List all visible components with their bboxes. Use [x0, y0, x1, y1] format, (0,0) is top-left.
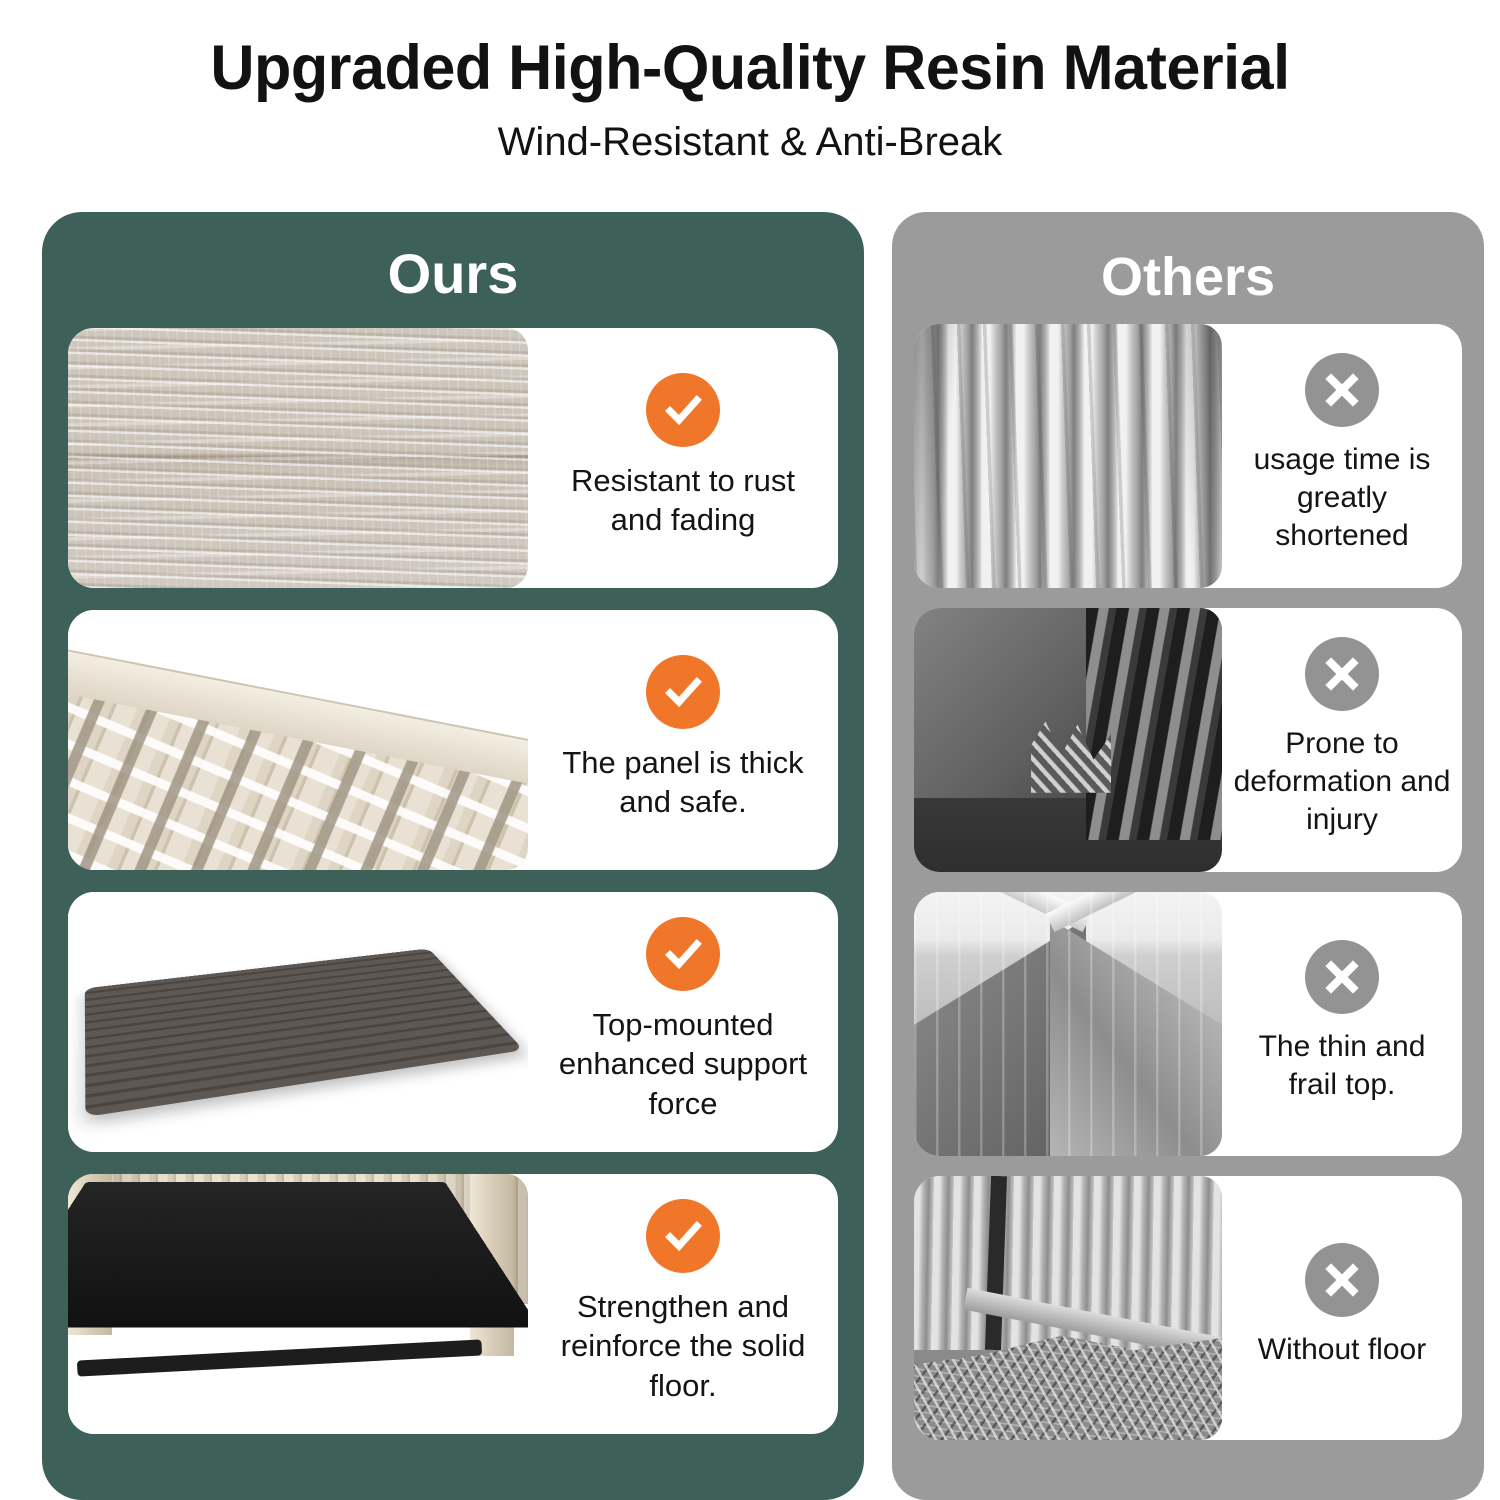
ours-caption-text: Strengthen and reinforce the solid floor…	[548, 1287, 818, 1404]
x-circle-icon	[1305, 1243, 1379, 1317]
others-caption-text: usage time is greatly shortened	[1232, 441, 1452, 554]
ours-row-list: Resistant to rust and fading The panel i…	[42, 328, 864, 1458]
ours-caption: Resistant to rust and fading	[528, 328, 838, 588]
page-title: Upgraded High-Quality Resin Material	[23, 34, 1478, 102]
comparison-section: Ours Resistant to rust and fading	[0, 212, 1500, 1500]
others-caption: The thin and frail top.	[1222, 892, 1462, 1156]
comparison-row: The thin and frail top.	[914, 892, 1462, 1156]
others-panel: Others usage time is greatly shortened	[892, 212, 1484, 1500]
ours-panel-heading: Ours	[42, 212, 864, 328]
solid-shed-floor-photo	[68, 1174, 528, 1434]
page-header: Upgraded High-Quality Resin Material Win…	[0, 0, 1500, 164]
metal-fins-shape	[1086, 608, 1222, 840]
comparison-row: Strengthen and reinforce the solid floor…	[68, 1174, 838, 1434]
resin-wood-grain-texture-photo	[68, 328, 528, 588]
others-caption: Prone to deformation and injury	[1222, 608, 1462, 872]
ours-caption-text: The panel is thick and safe.	[548, 743, 818, 821]
rusty-corrugated-metal-photo	[914, 324, 1222, 588]
others-caption: usage time is greatly shortened	[1222, 324, 1462, 588]
comparison-row: Prone to deformation and injury	[914, 608, 1462, 872]
comparison-row: Without floor	[914, 1176, 1462, 1440]
comparison-row: Resistant to rust and fading	[68, 328, 838, 588]
page-subtitle: Wind-Resistant & Anti-Break	[0, 120, 1500, 164]
ours-caption: Top-mounted enhanced support force	[528, 892, 838, 1152]
reinforced-floor-panel-photo	[68, 892, 528, 1152]
x-circle-icon	[1305, 637, 1379, 711]
roof-streaks-shading	[914, 892, 1222, 1156]
check-circle-icon	[646, 1199, 720, 1273]
check-circle-icon	[646, 917, 720, 991]
ours-caption: The panel is thick and safe.	[528, 610, 838, 870]
others-caption: Without floor	[1222, 1176, 1462, 1440]
thick-slotted-resin-panel-photo	[68, 610, 528, 870]
comparison-row: usage time is greatly shortened	[914, 324, 1462, 588]
others-caption-text: The thin and frail top.	[1232, 1028, 1452, 1104]
deformed-metal-edge-photo	[914, 608, 1222, 872]
check-circle-icon	[646, 373, 720, 447]
others-panel-heading: Others	[892, 212, 1484, 324]
ours-panel: Ours Resistant to rust and fading	[42, 212, 864, 1500]
shed-floor-rim-shape	[77, 1340, 482, 1377]
check-circle-icon	[646, 655, 720, 729]
ours-caption: Strengthen and reinforce the solid floor…	[528, 1174, 838, 1434]
others-caption-text: Without floor	[1258, 1331, 1426, 1369]
x-circle-icon	[1305, 940, 1379, 1014]
comparison-row: The panel is thick and safe.	[68, 610, 838, 870]
ours-caption-text: Top-mounted enhanced support force	[548, 1005, 818, 1122]
thin-metal-roof-photo	[914, 892, 1222, 1156]
floor-panel-shape	[85, 948, 524, 1117]
x-circle-icon	[1305, 353, 1379, 427]
shed-without-floor-photo	[914, 1176, 1222, 1440]
others-row-list: usage time is greatly shortened Prone to…	[892, 324, 1484, 1464]
shed-black-floor-shape	[68, 1182, 528, 1327]
others-caption-text: Prone to deformation and injury	[1232, 725, 1452, 838]
comparison-row: Top-mounted enhanced support force	[68, 892, 838, 1152]
ours-caption-text: Resistant to rust and fading	[548, 461, 818, 539]
